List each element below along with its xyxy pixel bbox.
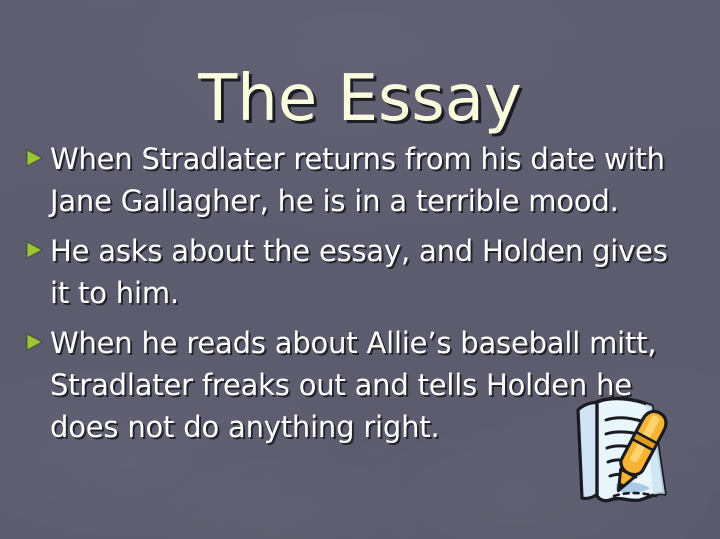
presentation-slide: The Essay When Stradlater returns from h… xyxy=(0,0,720,539)
bullet-item: He asks about the essay, and Holden give… xyxy=(24,230,684,314)
triangle-right-bullet-icon xyxy=(24,333,46,351)
paper-and-pen-clipart xyxy=(564,392,682,514)
slide-title: The Essay xyxy=(0,60,720,138)
bullet-item-text: He asks about the essay, and Holden give… xyxy=(50,230,684,314)
bullet-item: When Stradlater returns from his date wi… xyxy=(24,138,684,222)
triangle-right-bullet-icon xyxy=(24,241,46,259)
triangle-right-bullet-icon xyxy=(24,149,46,167)
bullet-item-text: When Stradlater returns from his date wi… xyxy=(50,138,684,222)
